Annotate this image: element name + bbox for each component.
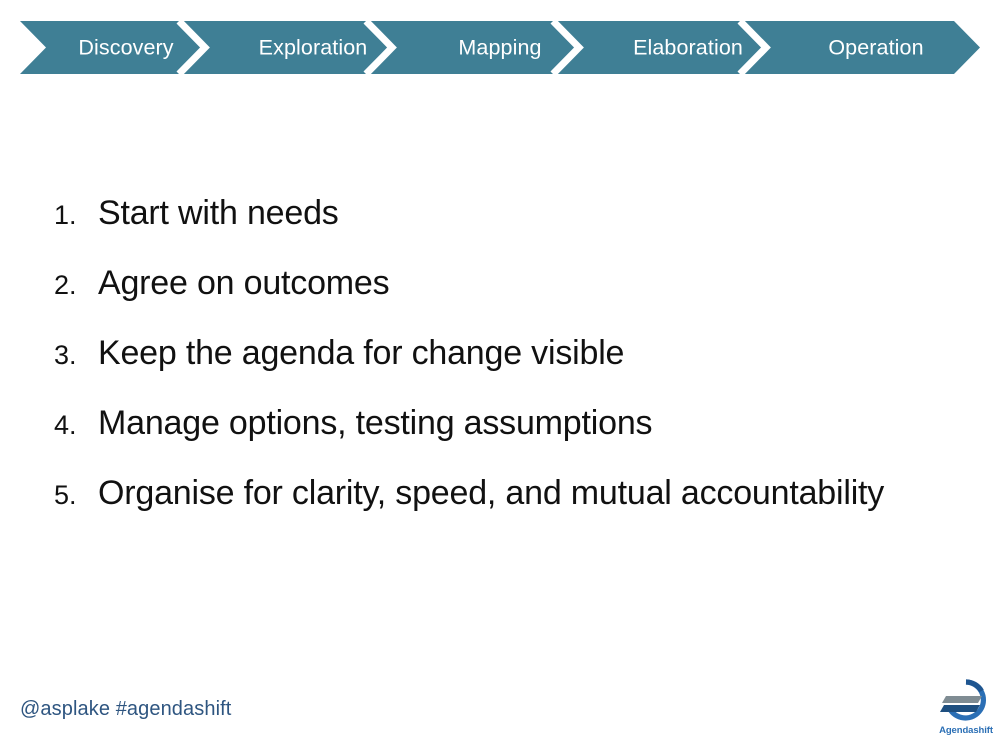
logo-bar-upper [942, 696, 982, 703]
list-item: 5. Organise for clarity, speed, and mutu… [0, 476, 1000, 546]
list-item: 1. Start with needs [0, 196, 1000, 266]
process-chevron-svg: Discovery Exploration Mapping Elaboratio… [20, 21, 980, 74]
chevron-stage-discovery[interactable]: Discovery [78, 36, 173, 60]
chevron-stage-elaboration[interactable]: Elaboration [633, 36, 743, 60]
list-item-text: Organise for clarity, speed, and mutual … [98, 476, 1000, 510]
footer-social-handle: @asplake #agendashift [20, 698, 231, 721]
slide-canvas: Discovery Exploration Mapping Elaboratio… [0, 0, 1000, 750]
list-item-text: Agree on outcomes [98, 266, 1000, 300]
chevron-stage-exploration[interactable]: Exploration [259, 36, 368, 60]
list-item-text: Keep the agenda for change visible [98, 336, 1000, 370]
list-item-number: 3. [54, 342, 98, 369]
principles-list: 1. Start with needs 2. Agree on outcomes… [0, 196, 1000, 546]
process-chevron-banner: Discovery Exploration Mapping Elaboratio… [20, 21, 980, 74]
logo-ring-accent [966, 682, 982, 691]
list-item: 4. Manage options, testing assumptions [0, 406, 1000, 476]
agendashift-wordmark: Agendashift [938, 725, 994, 736]
list-item-text: Start with needs [98, 196, 1000, 230]
agendashift-logo-icon [938, 678, 994, 724]
list-item-text: Manage options, testing assumptions [98, 406, 1000, 440]
chevron-stage-operation[interactable]: Operation [828, 36, 923, 60]
list-item-number: 2. [54, 272, 98, 299]
slide-body: 1. Start with needs 2. Agree on outcomes… [0, 196, 1000, 546]
agendashift-logo[interactable]: Agendashift [938, 678, 994, 740]
list-item-number: 4. [54, 412, 98, 439]
list-item: 3. Keep the agenda for change visible [0, 336, 1000, 406]
list-item-number: 1. [54, 202, 98, 229]
chevron-stage-mapping[interactable]: Mapping [458, 36, 541, 60]
logo-bar-lower [940, 705, 980, 712]
list-item: 2. Agree on outcomes [0, 266, 1000, 336]
list-item-number: 5. [54, 482, 98, 509]
